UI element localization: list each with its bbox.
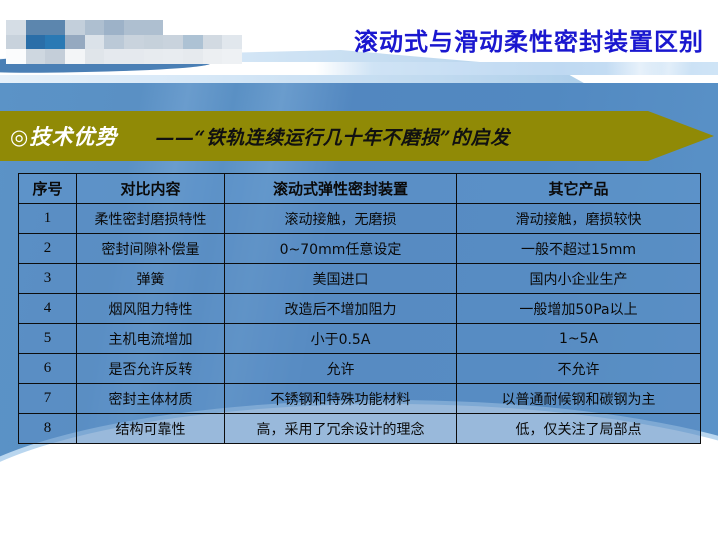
logo-mosaic-tile: [6, 20, 26, 35]
table-cell: 滚动接触，无磨损: [225, 204, 457, 234]
logo-mosaic-tile: [124, 35, 144, 50]
logo-mosaic-tile: [222, 35, 242, 50]
table-row: 6是否允许反转允许不允许: [19, 354, 701, 384]
logo-mosaic-tile: [6, 49, 26, 64]
slide-header: 滚动式与滑动柔性密封装置区别: [0, 0, 718, 83]
logo-mosaic-tile: [45, 49, 65, 64]
table-cell: 密封间隙补偿量: [77, 234, 225, 264]
logo-mosaic-tile: [203, 49, 223, 64]
table-cell-index: 1: [19, 204, 77, 234]
table-cell: 允许: [225, 354, 457, 384]
table-cell: 不锈钢和特殊功能材料: [225, 384, 457, 414]
table-header-cell-3: 滚动式弹性密封装置: [225, 174, 457, 204]
logo-mosaic-tile: [26, 35, 46, 50]
comparison-table-wrapper: 序号对比内容滚动式弹性密封装置其它产品 1柔性密封磨损特性滚动接触，无磨损滑动接…: [18, 173, 700, 444]
logo-mosaic-tile: [163, 35, 183, 50]
table-cell-index: 7: [19, 384, 77, 414]
table-cell-index: 5: [19, 324, 77, 354]
logo-mosaic-tile: [124, 49, 144, 64]
table-header-cell-2: 对比内容: [77, 174, 225, 204]
table-cell: 结构可靠性: [77, 414, 225, 444]
logo-mosaic-tile: [222, 20, 242, 35]
logo-mosaic-tile: [85, 35, 105, 50]
logo-mosaic-tile: [203, 20, 223, 35]
table-cell: 低，仅关注了局部点: [457, 414, 701, 444]
table-cell: 是否允许反转: [77, 354, 225, 384]
logo-mosaic-tile: [65, 49, 85, 64]
table-row: 5主机电流增加小于0.5A1~5A: [19, 324, 701, 354]
table-row: 1柔性密封磨损特性滚动接触，无磨损滑动接触，磨损较快: [19, 204, 701, 234]
section-banner: ◎技术优势 ——“铁轨连续运行几十年不磨损”的启发: [0, 111, 714, 161]
logo-mosaic-tile: [183, 49, 203, 64]
logo-mosaic-tile: [183, 35, 203, 50]
logo-mosaic-tile: [183, 20, 203, 35]
section-banner-subtitle: ——“铁轨连续运行几十年不磨损”的启发: [155, 123, 509, 150]
logo-mosaic-tile: [85, 49, 105, 64]
logo-mosaic-tile: [26, 49, 46, 64]
header-light-rays: [438, 60, 718, 83]
logo-mosaic-tile: [203, 35, 223, 50]
table-cell: 烟风阻力特性: [77, 294, 225, 324]
table-cell: 柔性密封磨损特性: [77, 204, 225, 234]
table-cell-index: 8: [19, 414, 77, 444]
table-cell: 弹簧: [77, 264, 225, 294]
logo-mosaic-tile: [45, 35, 65, 50]
table-body: 1柔性密封磨损特性滚动接触，无磨损滑动接触，磨损较快2密封间隙补偿量0~70mm…: [19, 204, 701, 444]
logo-mosaic-tile: [85, 20, 105, 35]
logo-mosaic-tile: [6, 35, 26, 50]
slide-canvas: 滚动式与滑动柔性密封装置区别 ◎技术优势 ——“铁轨连续运行几十年不磨损”的启发…: [0, 0, 718, 543]
table-header-cell-1: 序号: [19, 174, 77, 204]
table-row: 4烟风阻力特性改造后不增加阻力一般增加50Pa以上: [19, 294, 701, 324]
logo-mosaic-tile: [144, 20, 164, 35]
table-cell-index: 6: [19, 354, 77, 384]
logo-mosaic-tile: [26, 20, 46, 35]
table-cell: 不允许: [457, 354, 701, 384]
table-cell: 改造后不增加阻力: [225, 294, 457, 324]
page-title: 滚动式与滑动柔性密封装置区别: [354, 22, 704, 57]
table-cell-index: 3: [19, 264, 77, 294]
logo-mosaic-tile: [124, 20, 144, 35]
table-cell: 1~5A: [457, 324, 701, 354]
table-row: 7密封主体材质不锈钢和特殊功能材料以普通耐候钢和碳钢为主: [19, 384, 701, 414]
logo-mosaic-tile: [144, 35, 164, 50]
logo-mosaic-tile: [45, 20, 65, 35]
logo-mosaic-tile: [65, 35, 85, 50]
table-cell: 小于0.5A: [225, 324, 457, 354]
logo-mosaic-tile: [104, 20, 124, 35]
table-header-row: 序号对比内容滚动式弹性密封装置其它产品: [19, 174, 701, 204]
table-cell-index: 2: [19, 234, 77, 264]
logo-mosaic-tile: [144, 49, 164, 64]
table-cell: 0~70mm任意设定: [225, 234, 457, 264]
section-banner-title: ◎技术优势: [10, 121, 117, 151]
table-header-cell-4: 其它产品: [457, 174, 701, 204]
table-cell: 以普通耐候钢和碳钢为主: [457, 384, 701, 414]
table-cell: 一般增加50Pa以上: [457, 294, 701, 324]
table-row: 8结构可靠性高，采用了冗余设计的理念低，仅关注了局部点: [19, 414, 701, 444]
table-cell-index: 4: [19, 294, 77, 324]
redacted-logo: [6, 20, 242, 64]
logo-mosaic-tile: [163, 49, 183, 64]
comparison-table: 序号对比内容滚动式弹性密封装置其它产品 1柔性密封磨损特性滚动接触，无磨损滑动接…: [18, 173, 701, 444]
table-cell: 滑动接触，磨损较快: [457, 204, 701, 234]
logo-mosaic-tile: [65, 20, 85, 35]
logo-mosaic-tile: [163, 20, 183, 35]
logo-mosaic-tile: [222, 49, 242, 64]
logo-mosaic-tile: [104, 35, 124, 50]
logo-mosaic-tile: [104, 49, 124, 64]
table-cell: 一般不超过15mm: [457, 234, 701, 264]
table-row: 3弹簧美国进口国内小企业生产: [19, 264, 701, 294]
table-row: 2密封间隙补偿量0~70mm任意设定一般不超过15mm: [19, 234, 701, 264]
table-cell: 高，采用了冗余设计的理念: [225, 414, 457, 444]
table-cell: 美国进口: [225, 264, 457, 294]
table-cell: 密封主体材质: [77, 384, 225, 414]
table-cell: 国内小企业生产: [457, 264, 701, 294]
table-cell: 主机电流增加: [77, 324, 225, 354]
